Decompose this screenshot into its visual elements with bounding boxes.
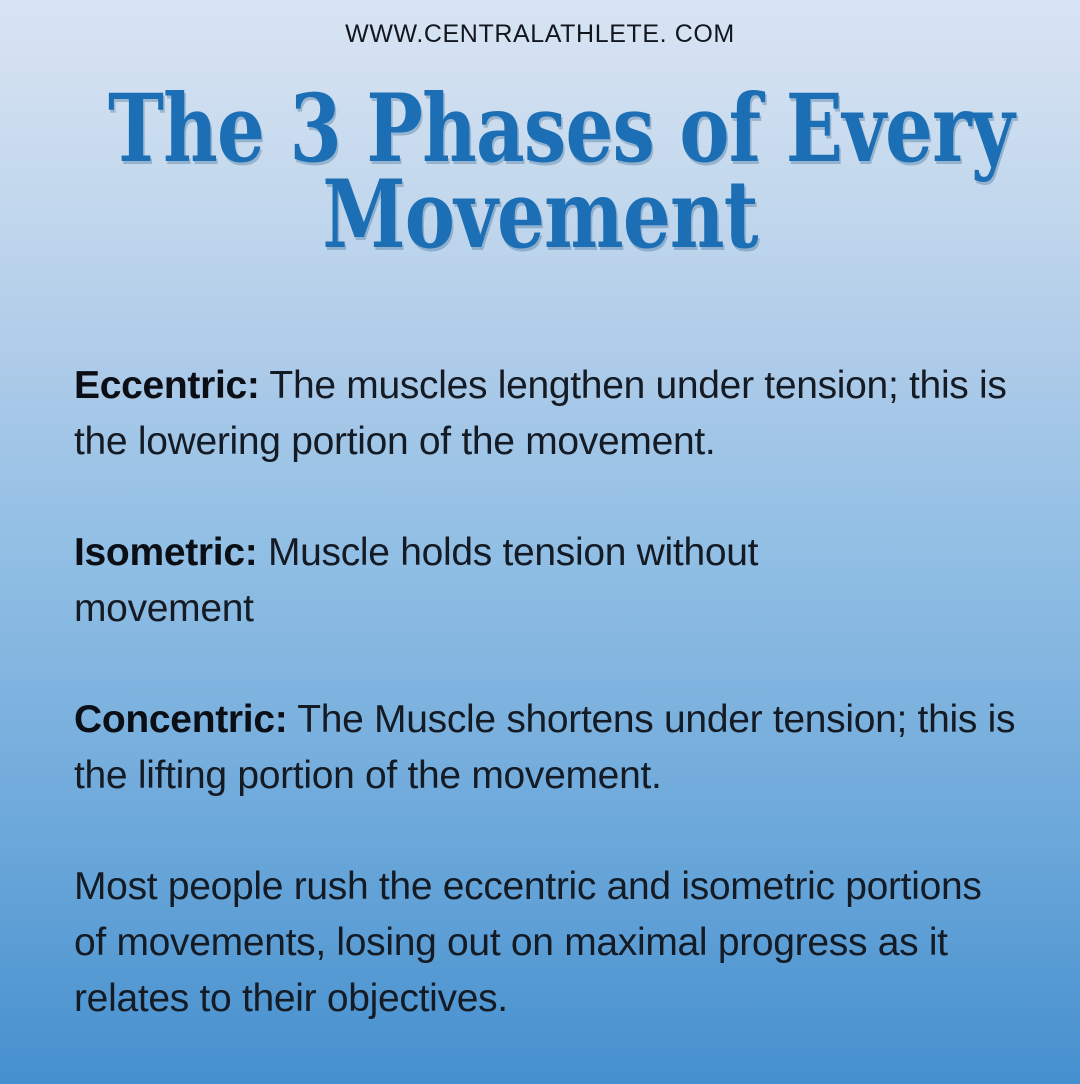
- paragraph-concentric: Concentric: The Muscle shortens under te…: [74, 692, 1042, 804]
- page-title-line-2: Movement: [108, 172, 972, 258]
- paragraph-eccentric-label: Eccentric:: [74, 364, 260, 407]
- paragraph-eccentric: Eccentric: The muscles lengthen under te…: [74, 358, 1042, 470]
- body-copy: Eccentric: The muscles lengthen under te…: [74, 358, 1046, 1027]
- paragraph-isometric-label: Isometric:: [74, 531, 257, 574]
- paragraph-isometric: Isometric: Muscle holds tension without …: [74, 525, 904, 637]
- paragraph-concentric-label: Concentric:: [74, 698, 287, 741]
- site-url-label: WWW.CENTRALATHLETE. COM: [0, 20, 1080, 49]
- poster-canvas: WWW.CENTRALATHLETE. COM The 3 Phases of …: [0, 0, 1080, 1084]
- paragraph-summary: Most people rush the eccentric and isome…: [74, 859, 1014, 1027]
- page-title: The 3 Phases of Every Movement: [108, 86, 972, 258]
